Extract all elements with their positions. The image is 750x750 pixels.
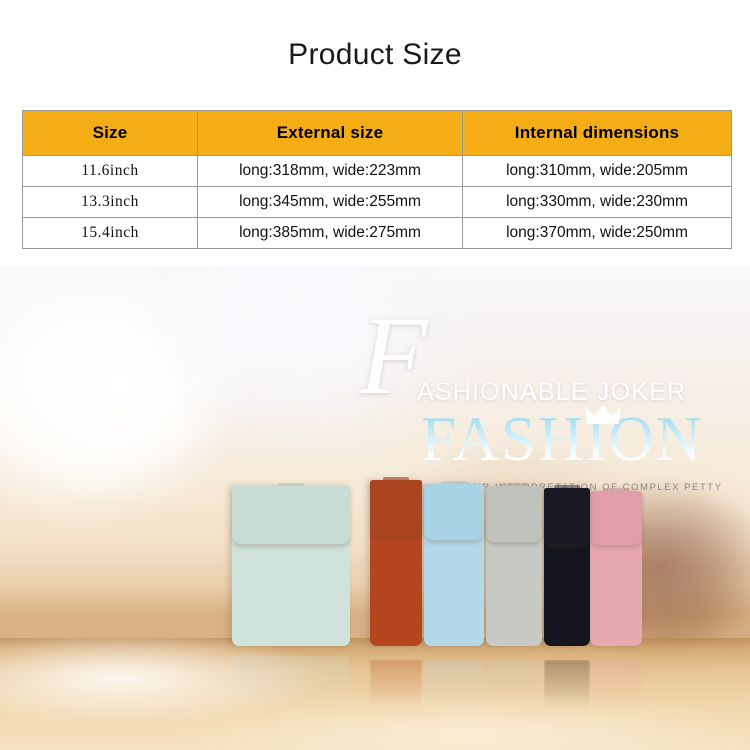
sleeve-flap <box>232 486 350 544</box>
sleeve-flap <box>590 491 642 545</box>
table-row: 11.6inch long:318mm, wide:223mm long:310… <box>23 156 732 187</box>
column-header-internal: Internal dimensions <box>463 111 732 156</box>
orange-brown-sleeve[interactable] <box>370 480 422 646</box>
sleeve-flap <box>544 488 590 544</box>
pink-sleeve[interactable] <box>590 491 642 646</box>
column-header-external: External size <box>198 111 463 156</box>
cell-external: long:385mm, wide:275mm <box>198 218 463 249</box>
product-hero-banner: F ASHIONABLE JOKER FASHION YOUR INTERPRE… <box>0 266 750 750</box>
sleeve-flap <box>370 480 422 536</box>
sleeve-reflection <box>232 656 350 710</box>
cell-size: 13.3inch <box>23 187 198 218</box>
sleeve-reflection <box>544 660 590 710</box>
sleeve-reflection <box>486 660 542 710</box>
column-header-size: Size <box>23 111 198 156</box>
cell-external: long:345mm, wide:255mm <box>198 187 463 218</box>
table-header-row: Size External size Internal dimensions <box>23 111 732 156</box>
sleeve-reflection <box>424 660 484 710</box>
sleeve-flap <box>424 484 484 540</box>
cell-external: long:318mm, wide:223mm <box>198 156 463 187</box>
cell-size: 15.4inch <box>23 218 198 249</box>
grey-sleeve[interactable] <box>486 486 542 646</box>
product-size-table: Size External size Internal dimensions 1… <box>22 110 732 249</box>
page-title: Product Size <box>0 38 750 72</box>
cell-size: 11.6inch <box>23 156 198 187</box>
cell-internal: long:370mm, wide:250mm <box>463 218 732 249</box>
sleeve-flap <box>486 486 542 542</box>
light-blue-sleeve[interactable] <box>424 484 484 646</box>
table-row: 15.4inch long:385mm, wide:275mm long:370… <box>23 218 732 249</box>
cell-internal: long:330mm, wide:230mm <box>463 187 732 218</box>
sleeve-reflection <box>590 660 642 710</box>
mint-green-sleeve[interactable] <box>232 486 350 646</box>
cell-internal: long:310mm, wide:205mm <box>463 156 732 187</box>
table-row: 13.3inch long:345mm, wide:255mm long:330… <box>23 187 732 218</box>
sleeve-reflection <box>370 660 422 710</box>
sleeve-lineup <box>0 266 750 750</box>
product-detail-page: Product Size Size External size Internal… <box>0 0 750 750</box>
navy-black-sleeve[interactable] <box>544 488 590 646</box>
